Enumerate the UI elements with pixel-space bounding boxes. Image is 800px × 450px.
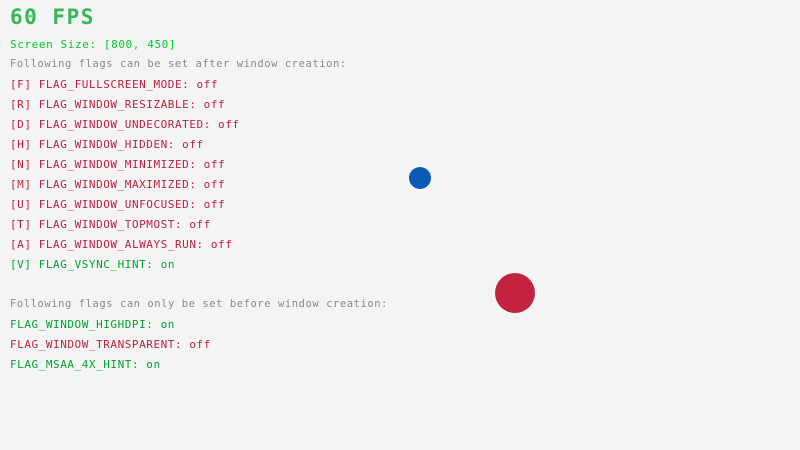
- flag-state: off: [204, 198, 226, 211]
- flag-shortcut-key: [M]: [10, 178, 39, 191]
- flag-name: FLAG_FULLSCREEN_MODE:: [39, 78, 197, 91]
- flag-name: FLAG_WINDOW_RESIZABLE:: [39, 98, 204, 111]
- creation-flags-heading: Following flags can only be set before w…: [10, 299, 388, 310]
- flag-shortcut-key: [U]: [10, 198, 39, 211]
- hud-overlay: 60 FPS Screen Size: [800, 450] Following…: [0, 0, 800, 450]
- flag-row[interactable]: [F] FLAG_FULLSCREEN_MODE: off: [10, 79, 218, 90]
- flag-row[interactable]: [U] FLAG_WINDOW_UNFOCUSED: off: [10, 199, 225, 210]
- flag-row[interactable]: [H] FLAG_WINDOW_HIDDEN: off: [10, 139, 204, 150]
- flag-name: FLAG_WINDOW_UNDECORATED:: [39, 118, 218, 131]
- flag-row[interactable]: [D] FLAG_WINDOW_UNDECORATED: off: [10, 119, 240, 130]
- flag-state: off: [204, 98, 226, 111]
- flag-row[interactable]: [M] FLAG_WINDOW_MAXIMIZED: off: [10, 179, 225, 190]
- flag-state: on: [161, 258, 175, 271]
- flag-name: FLAG_WINDOW_HIGHDPI:: [10, 318, 161, 331]
- flag-row[interactable]: FLAG_MSAA_4X_HINT: on: [10, 359, 161, 370]
- flag-row[interactable]: FLAG_WINDOW_HIGHDPI: on: [10, 319, 175, 330]
- flag-shortcut-key: [R]: [10, 98, 39, 111]
- flag-name: FLAG_WINDOW_ALWAYS_RUN:: [39, 238, 211, 251]
- flag-state: off: [197, 78, 219, 91]
- flag-name: FLAG_WINDOW_HIDDEN:: [39, 138, 182, 151]
- flag-state: off: [189, 338, 211, 351]
- flag-shortcut-key: [H]: [10, 138, 39, 151]
- flag-shortcut-key: [T]: [10, 218, 39, 231]
- flag-name: FLAG_MSAA_4X_HINT:: [10, 358, 146, 371]
- flag-state: off: [182, 138, 204, 151]
- flag-name: FLAG_VSYNC_HINT:: [39, 258, 161, 271]
- flag-row[interactable]: [R] FLAG_WINDOW_RESIZABLE: off: [10, 99, 225, 110]
- flag-name: FLAG_WINDOW_MINIMIZED:: [39, 158, 204, 171]
- flag-shortcut-key: [F]: [10, 78, 39, 91]
- flag-state: off: [204, 158, 226, 171]
- flag-shortcut-key: [V]: [10, 258, 39, 271]
- flag-row[interactable]: [A] FLAG_WINDOW_ALWAYS_RUN: off: [10, 239, 232, 250]
- ball-red: [495, 273, 535, 313]
- runtime-flags-heading: Following flags can be set after window …: [10, 59, 347, 70]
- flag-row[interactable]: [V] FLAG_VSYNC_HINT: on: [10, 259, 175, 270]
- flag-name: FLAG_WINDOW_UNFOCUSED:: [39, 198, 204, 211]
- flag-state: off: [211, 238, 233, 251]
- flag-row[interactable]: FLAG_WINDOW_TRANSPARENT: off: [10, 339, 211, 350]
- flag-state: on: [161, 318, 175, 331]
- flag-shortcut-key: [N]: [10, 158, 39, 171]
- flag-row[interactable]: [T] FLAG_WINDOW_TOPMOST: off: [10, 219, 211, 230]
- raylib-window[interactable]: 60 FPS Screen Size: [800, 450] Following…: [0, 0, 800, 450]
- fps-counter: 60 FPS: [10, 7, 95, 28]
- flag-shortcut-key: [A]: [10, 238, 39, 251]
- flag-state: off: [204, 178, 226, 191]
- flag-state: on: [146, 358, 160, 371]
- flag-shortcut-key: [D]: [10, 118, 39, 131]
- flag-name: FLAG_WINDOW_TRANSPARENT:: [10, 338, 189, 351]
- flag-state: off: [218, 118, 240, 131]
- ball-blue: [409, 167, 431, 189]
- screen-size-label: Screen Size: [800, 450]: [10, 39, 176, 50]
- flag-name: FLAG_WINDOW_TOPMOST:: [39, 218, 190, 231]
- flag-row[interactable]: [N] FLAG_WINDOW_MINIMIZED: off: [10, 159, 225, 170]
- flag-name: FLAG_WINDOW_MAXIMIZED:: [39, 178, 204, 191]
- flag-state: off: [189, 218, 211, 231]
